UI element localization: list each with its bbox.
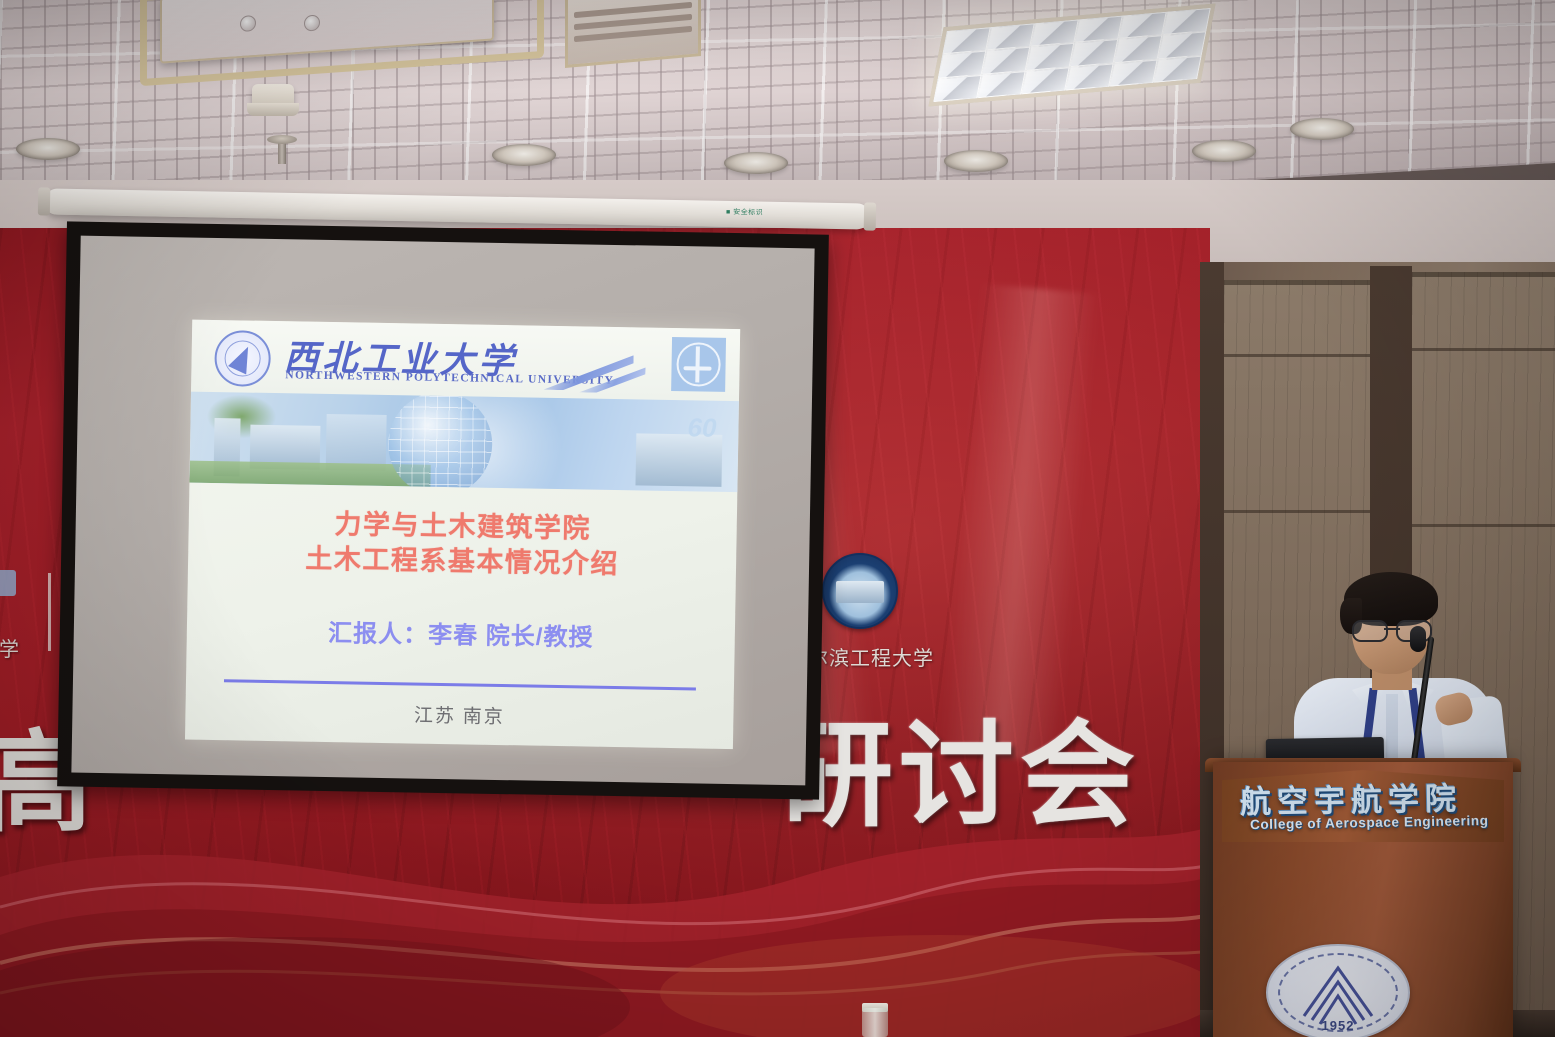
- roller-label: ■ 安全标识: [726, 207, 763, 218]
- globe-graphic: [387, 392, 493, 493]
- emblem-year: 1952: [1268, 1018, 1408, 1033]
- nuaa-emblem-icon: 1952: [1266, 944, 1410, 1037]
- banner-divider: [48, 573, 51, 651]
- harbin-engineering-university-name: 尔滨工程大学: [808, 642, 934, 671]
- slide-header: 西北工业大学 NORTHWESTERN POLYTECHNICAL UNIVER…: [191, 320, 740, 402]
- microphone-head-icon: [1410, 626, 1426, 652]
- harbin-engineering-university-logo-icon: [822, 553, 898, 629]
- conference-room-photo: 大学 高 尔滨工程大学 研讨会 江苏 · 南京 2017年5月13日: [0, 0, 1555, 1037]
- projection-screen: 西北工业大学 NORTHWESTERN POLYTECHNICAL UNIVER…: [57, 221, 829, 799]
- slide-presenter-line: 汇报人：李春 院长/教授: [187, 611, 736, 656]
- projected-slide: 西北工业大学 NORTHWESTERN POLYTECHNICAL UNIVER…: [185, 320, 740, 749]
- hair: [1344, 572, 1438, 626]
- slide-title: 力学与土木建筑学院 土木工程系基本情况介绍: [188, 505, 737, 584]
- slide-body: 力学与土木建筑学院 土木工程系基本情况介绍 汇报人：李春 院长/教授 江苏 南京: [185, 483, 737, 750]
- slide-campus-banner-image: 60: [189, 392, 739, 493]
- left-banner-badge-icon: [0, 570, 16, 596]
- slide-divider: [224, 679, 696, 690]
- left-university-name: 大学: [0, 633, 20, 662]
- anniversary-mark: 60: [687, 412, 716, 444]
- projection-surface: 西北工业大学 NORTHWESTERN POLYTECHNICAL UNIVER…: [71, 236, 814, 786]
- water-bottle-icon: [862, 1008, 888, 1037]
- slide-place-line: 江苏 南京: [185, 697, 733, 734]
- nwpu-seal-icon: [214, 330, 271, 387]
- seminar-title: 研讨会: [778, 683, 1141, 849]
- civil-engineering-badge-icon: [671, 337, 726, 392]
